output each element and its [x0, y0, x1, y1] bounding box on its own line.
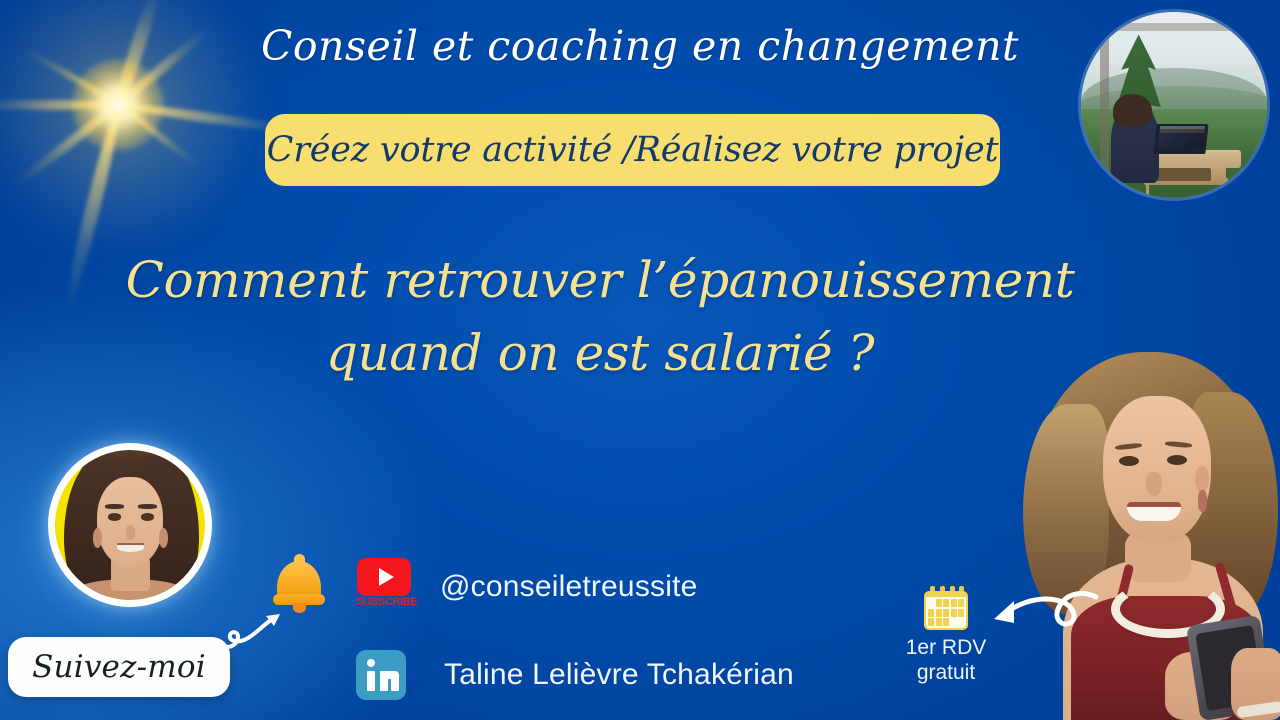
- social-row-youtube[interactable]: SUBSCRIBE @conseiletreussite: [356, 556, 876, 618]
- subtitle-pill: Créez votre activité /Réalisez votre pro…: [265, 114, 1000, 186]
- youtube-icon[interactable]: SUBSCRIBE: [356, 558, 412, 616]
- main-question-line-2: quand on est salarié ?: [60, 317, 1140, 390]
- linkedin-name-label: Taline Lelièvre Tchakérian: [444, 658, 794, 692]
- calendar-icon: [923, 586, 969, 630]
- youtube-subscribe-caption: SUBSCRIBE: [356, 596, 412, 608]
- rdv-label-line-2: gratuit: [890, 661, 1002, 686]
- video-thumbnail-slide: Conseil et coaching en changement Créez …: [0, 0, 1280, 720]
- suivez-moi-label: Suivez-moi: [32, 649, 206, 685]
- subtitle-pill-label: Créez votre activité /Réalisez votre pro…: [267, 130, 999, 170]
- rdv-label-line-1: 1er RDV: [890, 636, 1002, 661]
- suivez-moi-badge: Suivez-moi: [8, 637, 230, 697]
- youtube-handle-label: @conseiletreussite: [440, 570, 698, 604]
- main-question-line-1: Comment retrouver l’épanouissement: [60, 244, 1140, 317]
- free-appointment-badge: 1er RDV gratuit: [890, 586, 1002, 686]
- bell-icon: [273, 553, 325, 611]
- avatar: [48, 443, 212, 607]
- social-row-linkedin[interactable]: Taline Lelièvre Tchakérian: [356, 644, 876, 706]
- header-title: Conseil et coaching en changement: [0, 24, 1280, 70]
- social-links: SUBSCRIBE @conseiletreussite Taline Leli…: [356, 556, 876, 706]
- linkedin-icon[interactable]: [356, 650, 406, 700]
- presenter-photo: [1015, 352, 1280, 720]
- main-question: Comment retrouver l’épanouissement quand…: [60, 244, 1140, 390]
